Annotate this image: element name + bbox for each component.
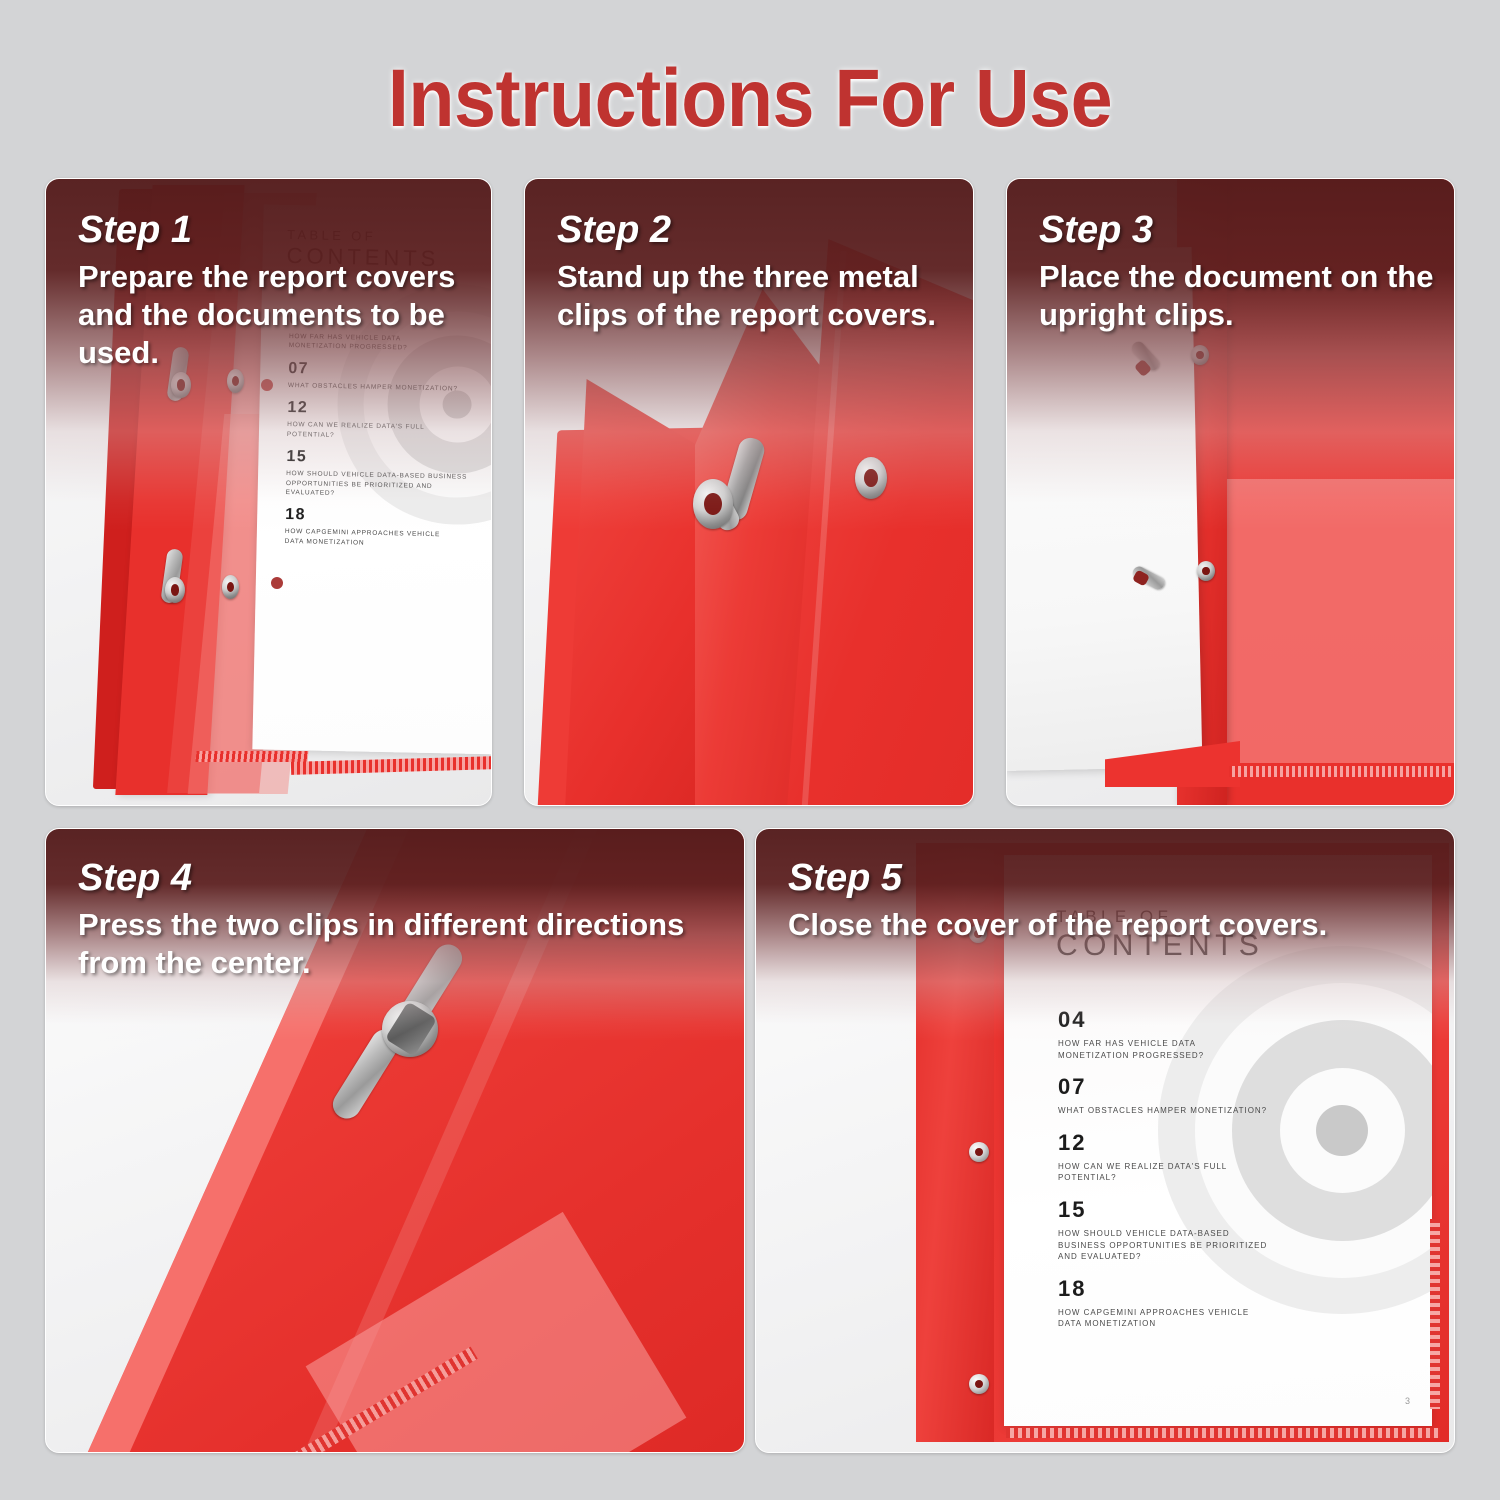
toc-entry-text: WHAT OBSTACLES HAMPER MONETIZATION? xyxy=(1058,1105,1268,1117)
toc-entry-text: HOW SHOULD VEHICLE DATA-BASED BUSINESS O… xyxy=(1058,1228,1268,1263)
step-card-1: TABLE OF CONTENTS 04 HOW FAR HAS VEHICLE… xyxy=(45,178,492,806)
step-text-2: Step 2 Stand up the three metal clips of… xyxy=(557,209,955,334)
toc-entry: 12 HOW CAN WE REALIZE DATA'S FULL POTENT… xyxy=(1058,1130,1268,1184)
step-label: Step 1 xyxy=(78,209,473,252)
eyelet-bottom xyxy=(969,1374,989,1394)
step-text-5: Step 5 Close the cover of the report cov… xyxy=(788,857,1436,944)
toc-entry: 15 HOW SHOULD VEHICLE DATA-BASED BUSINES… xyxy=(1058,1197,1268,1263)
toc-entry-text: HOW SHOULD VEHICLE DATA-BASED BUSINESS O… xyxy=(286,469,472,501)
step-text-3: Step 3 Place the document on the upright… xyxy=(1039,209,1436,334)
toc-entry: 07 WHAT OBSTACLES HAMPER MONETIZATION? xyxy=(1058,1074,1268,1117)
cover-pocket-translucent xyxy=(1223,479,1454,763)
step-card-5: TABLE OF CONTENTS 04 HOW FAR HAS VEHICLE… xyxy=(755,828,1455,1453)
pocket-rib-bottom xyxy=(1006,1428,1440,1438)
step-label: Step 3 xyxy=(1039,209,1436,252)
step-description: Press the two clips in different directi… xyxy=(78,906,726,982)
eyelet-lower xyxy=(165,577,185,603)
toc-entry-number: 18 xyxy=(285,506,491,528)
toc-entry-number: 12 xyxy=(287,399,491,421)
eyelet-lower xyxy=(1197,561,1215,581)
toc-entry-text: HOW CAPGEMINI APPROACHES VEHICLE DATA MO… xyxy=(285,527,460,550)
step-description: Close the cover of the report covers. xyxy=(788,906,1436,944)
toc-entry-list: 04 HOW FAR HAS VEHICLE DATA MONETIZATION… xyxy=(1058,1007,1268,1330)
toc-entry-number: 07 xyxy=(1058,1074,1268,1100)
toc-entry-text: HOW CAPGEMINI APPROACHES VEHICLE DATA MO… xyxy=(1058,1307,1268,1330)
step-label: Step 5 xyxy=(788,857,1436,900)
toc-entry: 18 HOW CAPGEMINI APPROACHES VEHICLE DATA… xyxy=(285,506,491,550)
step-card-3: Step 3 Place the document on the upright… xyxy=(1006,178,1455,806)
pocket-rib-bottom xyxy=(1229,766,1454,777)
step-text-4: Step 4 Press the two clips in different … xyxy=(78,857,726,982)
toc-page-number: 3 xyxy=(1405,1396,1410,1406)
eyelet-upper-right xyxy=(227,369,244,393)
toc-entry: 04 HOW FAR HAS VEHICLE DATA MONETIZATION… xyxy=(1058,1007,1268,1061)
toc-entry-number: 18 xyxy=(1058,1276,1268,1302)
page-title: Instructions For Use xyxy=(60,52,1440,146)
eyelet-middle xyxy=(969,1142,989,1162)
step-description: Place the document on the upright clips. xyxy=(1039,258,1436,334)
pocket-rib-right xyxy=(1430,1219,1440,1409)
step-label: Step 2 xyxy=(557,209,955,252)
toc-entry-number: 04 xyxy=(1058,1007,1268,1033)
toc-entry-number: 15 xyxy=(1058,1197,1268,1223)
toc-entry: 15 HOW SHOULD VEHICLE DATA-BASED BUSINES… xyxy=(286,448,491,502)
step-description: Prepare the report covers and the docume… xyxy=(78,258,473,371)
step-label: Step 4 xyxy=(78,857,726,900)
toc-entry-text: HOW FAR HAS VEHICLE DATA MONETIZATION PR… xyxy=(1058,1038,1268,1061)
step-card-4: Step 4 Press the two clips in different … xyxy=(45,828,745,1453)
eyelet-right xyxy=(855,457,887,499)
step-description: Stand up the three metal clips of the re… xyxy=(557,258,955,334)
eyelet-lower-right xyxy=(222,575,239,599)
toc-entry-number: 15 xyxy=(286,448,491,470)
eyelet-upper xyxy=(1191,345,1209,365)
toc-entry: 18 HOW CAPGEMINI APPROACHES VEHICLE DATA… xyxy=(1058,1276,1268,1330)
toc-entry-text: HOW CAN WE REALIZE DATA'S FULL POTENTIAL… xyxy=(287,420,457,442)
punch-hole-lower xyxy=(271,577,283,589)
toc-entry-number: 12 xyxy=(1058,1130,1268,1156)
eyelet-left xyxy=(693,479,733,529)
toc-entry: 12 HOW CAN WE REALIZE DATA'S FULL POTENT… xyxy=(287,399,491,443)
step-text-1: Step 1 Prepare the report covers and the… xyxy=(78,209,473,371)
step-card-2: Step 2 Stand up the three metal clips of… xyxy=(524,178,974,806)
pocket-rib-left xyxy=(195,751,308,762)
toc-entry-text: WHAT OBSTACLES HAMPER MONETIZATION? xyxy=(288,381,458,394)
eyelet-upper xyxy=(171,372,191,398)
punch-hole-upper xyxy=(261,379,273,391)
toc-entry-text: HOW CAN WE REALIZE DATA'S FULL POTENTIAL… xyxy=(1058,1161,1268,1184)
